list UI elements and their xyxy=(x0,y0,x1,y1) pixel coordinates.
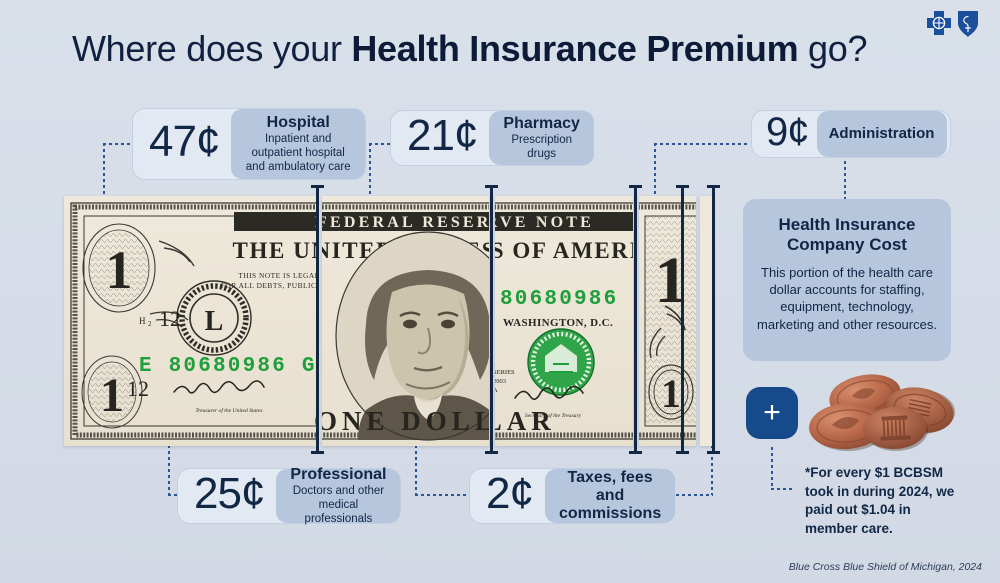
svg-text:FOR ALL DEBTS, PUBLIC AND PRIV: FOR ALL DEBTS, PUBLIC AND PRIVATE xyxy=(221,281,316,290)
connector-hospital-horizontal xyxy=(103,143,133,145)
svg-text:FEDERAL RESERVE NOTE: FEDERAL RESERVE NOTE xyxy=(322,214,489,231)
title-post: go? xyxy=(798,28,867,69)
connector-taxes-right-horizontal xyxy=(670,494,713,496)
footnote-text: *For every $1 BCBSM took in during 2024,… xyxy=(805,464,955,539)
callout-administration-title: Administration xyxy=(829,126,935,143)
svg-text:2: 2 xyxy=(148,320,152,328)
infocard-heading: Health Insurance Company Cost xyxy=(757,215,937,256)
callout-professional[interactable]: 25¢ Professional Doctors and other medic… xyxy=(177,468,401,524)
infographic-canvas: Where does your Health Insurance Premium… xyxy=(0,0,1000,583)
callout-pharmacy-desc: Prescription drugs xyxy=(503,133,580,161)
svg-text:12: 12 xyxy=(127,376,149,401)
connector-professional-vertical xyxy=(168,445,170,495)
callout-taxes-cents: 2¢ xyxy=(470,469,545,523)
svg-text:THE UNITED STATES OF AMERICA: THE UNITED STATES OF AMERICA xyxy=(233,238,316,263)
svg-text:Treasurer of the United States: Treasurer of the United States xyxy=(195,407,262,414)
connector-pharmacy-horizontal xyxy=(369,143,391,145)
attribution-text: Blue Cross Blue Shield of Michigan, 2024 xyxy=(789,561,982,573)
callout-hospital-title: Hospital xyxy=(267,114,330,132)
bill-segment-administration: 1 1 xyxy=(639,196,696,446)
svg-text:L: L xyxy=(205,306,224,337)
callout-taxes[interactable]: 2¢ Taxes, fees and commissions xyxy=(469,468,671,524)
callout-hospital-label: Hospital Inpatient and outpatient hospit… xyxy=(231,109,365,179)
title-pre: Where does your xyxy=(72,28,351,69)
callout-administration-label: Administration xyxy=(817,111,947,157)
svg-text:1: 1 xyxy=(106,240,133,300)
bill-divider-2 xyxy=(490,185,493,454)
svg-text:THIS NOTE IS LEGAL TENDER: THIS NOTE IS LEGAL TENDER xyxy=(238,271,316,280)
pennies-image xyxy=(808,372,958,452)
page-title: Where does your Health Insurance Premium… xyxy=(72,28,867,70)
callout-taxes-label: Taxes, fees and commissions xyxy=(545,469,675,523)
connector-taxes-left-horizontal xyxy=(415,494,473,496)
callout-pharmacy-label: Pharmacy Prescription drugs xyxy=(489,111,594,165)
connector-plus-vertical xyxy=(771,447,773,489)
infocard-body: This portion of the health care dollar a… xyxy=(757,264,937,333)
bill-segment-professional: FEDERAL RESERVE NOTE THE UNITED STATES O… xyxy=(322,196,489,446)
bill-divider-5 xyxy=(712,185,715,454)
blue-cross-blue-shield-logo xyxy=(924,8,986,40)
bill-divider-1 xyxy=(316,185,319,454)
svg-text:SERIES: SERIES xyxy=(495,369,515,376)
plus-icon: + xyxy=(763,398,781,428)
bill-divider-3 xyxy=(634,185,637,454)
callout-hospital-cents: 47¢ xyxy=(133,109,231,179)
health-insurance-company-cost-card: Health Insurance Company Cost This porti… xyxy=(743,199,951,361)
title-emphasis: Health Insurance Premium xyxy=(351,28,798,69)
callout-administration[interactable]: 9¢ Administration xyxy=(751,110,951,158)
connector-hospital-vertical xyxy=(103,143,105,203)
svg-text:ONE DOLLAR: ONE DOLLAR xyxy=(322,406,489,436)
svg-text:E 80680986 G: E 80680986 G xyxy=(139,355,316,378)
callout-professional-title: Professional xyxy=(290,466,386,484)
callout-pharmacy[interactable]: 21¢ Pharmacy Prescription drugs xyxy=(390,110,594,166)
svg-text:WASHINGTON, D.C.: WASHINGTON, D.C. xyxy=(503,317,613,329)
svg-text:1: 1 xyxy=(661,371,681,416)
connector-infocard-tick xyxy=(844,161,846,199)
bill-divider-4 xyxy=(681,185,684,454)
plus-button[interactable]: + xyxy=(746,387,798,439)
svg-text:ONE DOLLAR: ONE DOLLAR xyxy=(495,406,556,436)
connector-pharmacy-vertical xyxy=(369,143,371,203)
svg-text:1: 1 xyxy=(100,369,124,422)
connector-plus-horizontal xyxy=(771,488,793,490)
callout-professional-cents: 25¢ xyxy=(178,469,276,523)
bill-segment-hospital: FEDERAL RESERVE NOTE THE UNITED STATES O… xyxy=(64,196,316,446)
callout-pharmacy-title: Pharmacy xyxy=(503,115,580,133)
callout-hospital[interactable]: 47¢ Hospital Inpatient and outpatient ho… xyxy=(132,108,366,180)
callout-pharmacy-cents: 21¢ xyxy=(391,111,489,165)
connector-administration-vertical xyxy=(654,143,656,203)
callout-taxes-title: Taxes, fees and commissions xyxy=(559,469,661,523)
callout-professional-desc: Doctors and other medical professionals xyxy=(290,484,386,526)
callout-hospital-desc: Inpatient and outpatient hospital and am… xyxy=(246,132,351,174)
svg-text:2003: 2003 xyxy=(495,378,506,385)
connector-taxes-left-vertical xyxy=(415,445,417,495)
connector-administration-horizontal xyxy=(654,143,750,145)
svg-text:THE UNITED STATES OF AMERICA: THE UNITED STATES OF AMERICA xyxy=(495,238,633,263)
callout-administration-cents: 9¢ xyxy=(752,111,817,157)
bill-segment-pharmacy: FEDERAL RESERVE NOTE THE UNITED STATES O… xyxy=(495,196,633,446)
callout-professional-label: Professional Doctors and other medical p… xyxy=(276,469,400,523)
svg-text:FEDERAL RESERVE NOTE: FEDERAL RESERVE NOTE xyxy=(495,214,594,231)
svg-text:A: A xyxy=(495,387,498,394)
svg-text:80680986 G: 80680986 G xyxy=(500,288,633,311)
svg-text:H: H xyxy=(139,316,146,326)
svg-text:12: 12 xyxy=(159,306,181,331)
